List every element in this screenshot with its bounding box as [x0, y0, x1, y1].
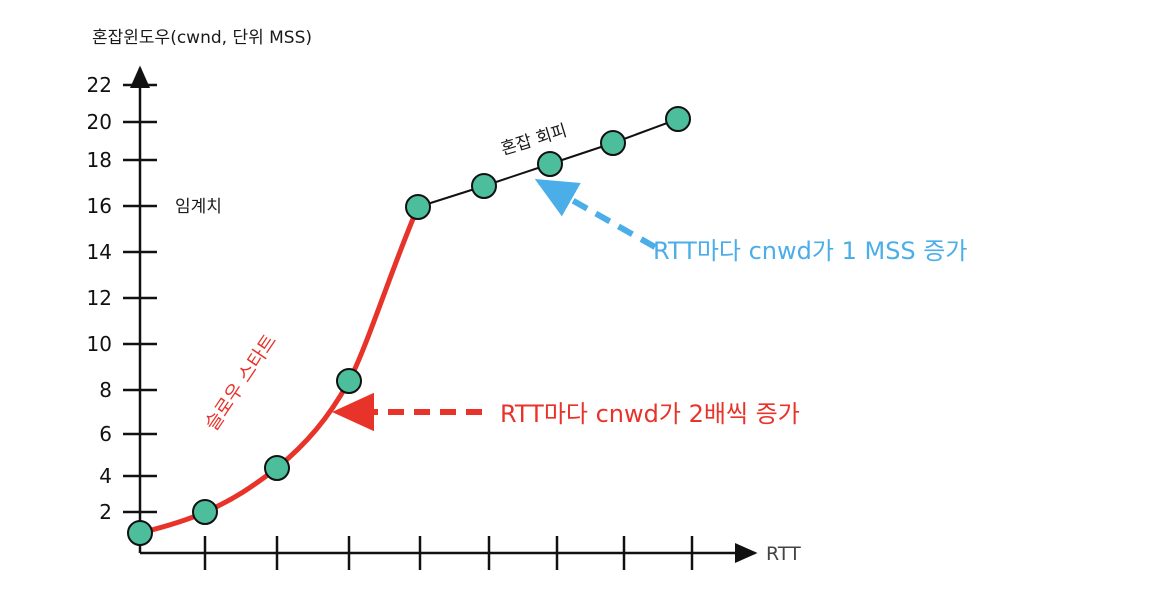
x-axis-title: RTT — [766, 543, 801, 565]
y-axis-title: 혼잡윈도우(cwnd, 단위 MSS) — [92, 28, 312, 48]
y-tick-label-22: 22 — [87, 73, 112, 97]
chart-figure: 혼잡윈도우(cwnd, 단위 MSS) RTT 22 20 18 16 — [0, 0, 1174, 594]
data-point-cwnd-8 — [337, 369, 361, 393]
data-point-cwnd-4 — [265, 456, 289, 480]
tcp-congestion-window-chart: 혼잡윈도우(cwnd, 단위 MSS) RTT 22 20 18 16 — [0, 0, 1174, 594]
slow-start-curve — [140, 207, 418, 533]
threshold-label: 임계치 — [175, 197, 222, 217]
y-tick-label-10: 10 — [87, 332, 112, 356]
blue-callout-text: RTT마다 cnwd가 1 MSS 증가 — [653, 237, 967, 265]
data-point-cwnd-18 — [538, 152, 562, 176]
y-tick-label-18: 18 — [87, 148, 112, 172]
y-tick-label-12: 12 — [87, 286, 112, 310]
blue-callout-arrow — [540, 182, 655, 247]
data-point-cwnd-1 — [128, 521, 152, 545]
y-tick-label-4: 4 — [99, 464, 112, 488]
congestion-avoidance-label: 혼잡 회피 — [499, 121, 570, 160]
data-point-cwnd-20 — [666, 107, 690, 131]
y-tick-label-14: 14 — [87, 240, 112, 264]
data-point-markers — [128, 107, 690, 545]
y-tick-label-16: 16 — [87, 194, 112, 218]
y-tick-labels: 22 20 18 16 14 12 10 8 6 4 2 — [87, 73, 112, 524]
y-tick-label-8: 8 — [99, 378, 112, 402]
y-tick-label-20: 20 — [87, 110, 112, 134]
y-tick-label-2: 2 — [99, 500, 112, 524]
data-point-cwnd-19 — [601, 131, 625, 155]
data-point-cwnd-2 — [193, 500, 217, 524]
slow-start-label: 슬로우 스타트 — [201, 331, 281, 435]
data-point-cwnd-17 — [472, 174, 496, 198]
y-tick-label-6: 6 — [99, 422, 112, 446]
data-point-cwnd-16 — [406, 195, 430, 219]
red-callout-text: RTT마다 cnwd가 2배씩 증가 — [500, 400, 800, 428]
